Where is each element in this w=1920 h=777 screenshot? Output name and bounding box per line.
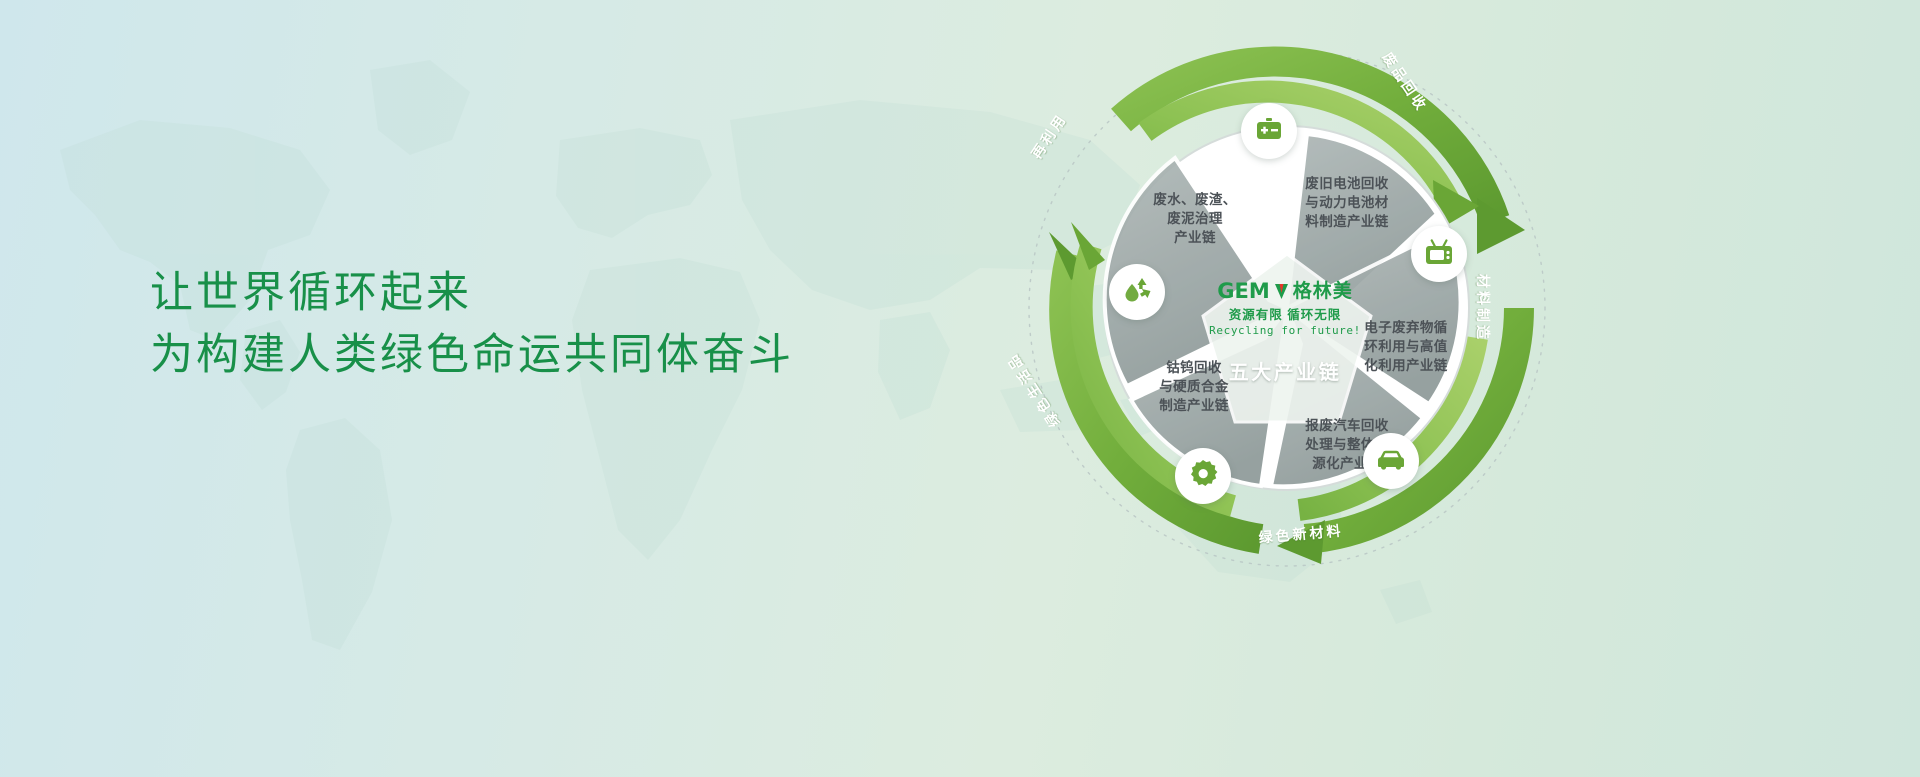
tv-icon-bubble — [1411, 226, 1467, 282]
center-logo-block: GEM 格林美 资源有限 循环无限 Recycling for future! … — [1185, 280, 1385, 385]
brand-line: GEM 格林美 — [1185, 280, 1385, 302]
ring-label-material-mfg: 材料制造 — [1473, 238, 1493, 378]
segment-label-battery: 废旧电池回收 与动力电池材 料制造产业链 — [1287, 174, 1407, 231]
five-industry-chain-diagram: 再利用 废品回收 材料制造 绿色新材料 绿色生活品 废水、废渣、 废泥治理 产业… — [1025, 8, 1565, 608]
center-title: 五大产业链 — [1185, 356, 1385, 385]
car-icon-bubble — [1363, 433, 1419, 489]
world-map-watermark — [0, 0, 1920, 777]
brand-tagline-en: Recycling for future! — [1185, 324, 1385, 337]
gear-icon-bubble — [1175, 448, 1231, 504]
water-recycle-icon — [1121, 274, 1153, 311]
water-recycle-icon-bubble — [1109, 264, 1165, 320]
brand-cn: 格林美 — [1293, 281, 1353, 302]
slogan-block: 让世界循环起来 为构建人类绿色命运共同体奋斗 — [150, 262, 794, 386]
brand-mark-icon — [1275, 284, 1288, 299]
battery-icon-bubble — [1241, 103, 1297, 159]
brand-latin: GEM — [1217, 281, 1269, 302]
brand-tagline-cn: 资源有限 循环无限 — [1185, 304, 1385, 323]
gear-icon — [1187, 458, 1219, 495]
car-icon — [1375, 443, 1407, 480]
segment-label-waste-water: 废水、废渣、 废泥治理 产业链 — [1135, 190, 1255, 247]
battery-icon — [1253, 113, 1285, 150]
slogan-line-2: 为构建人类绿色命运共同体奋斗 — [150, 324, 794, 386]
slogan-line-1: 让世界循环起来 — [150, 262, 794, 324]
tv-icon — [1423, 236, 1455, 273]
